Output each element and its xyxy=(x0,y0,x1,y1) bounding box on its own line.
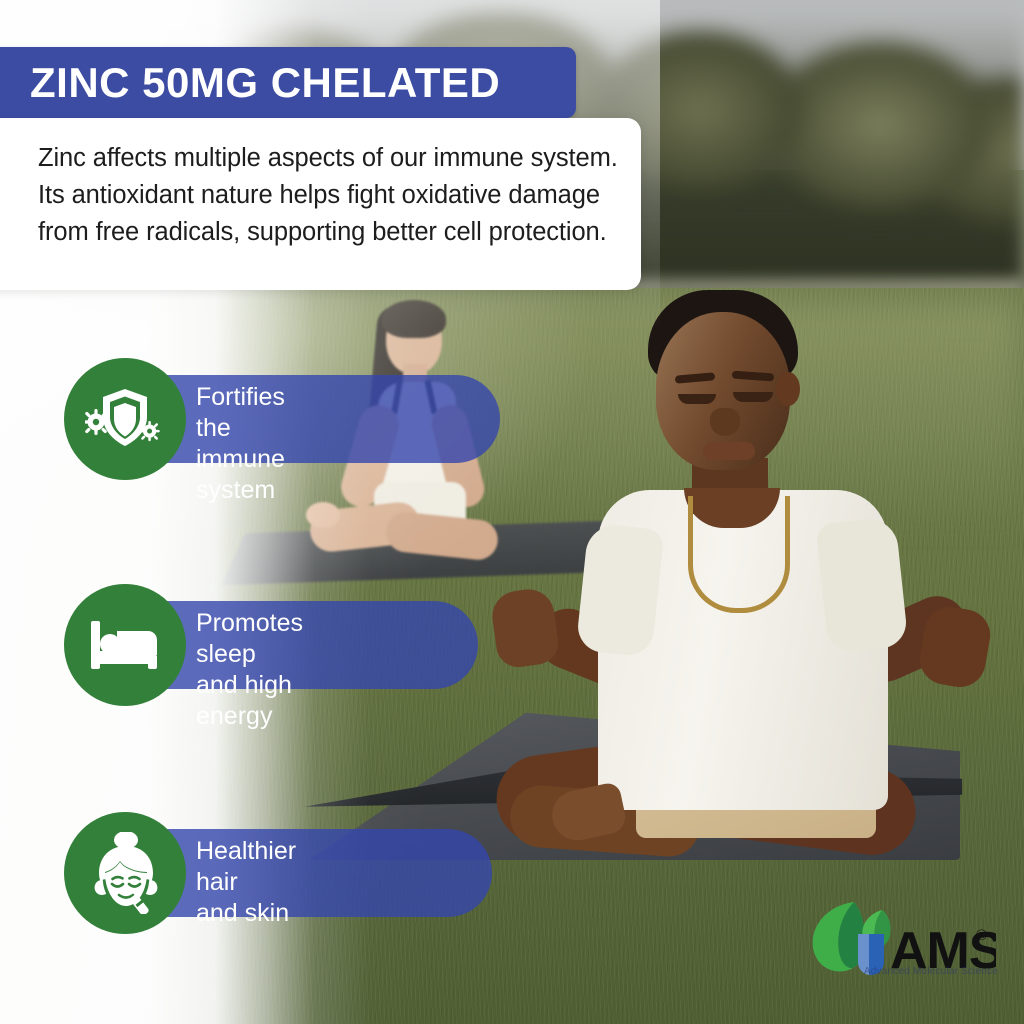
ams-logo: AMS ® Advanced Molecular Science xyxy=(806,896,996,992)
benefit-label: Promotes sleep and high energy xyxy=(196,608,303,732)
benefit-label: Healthier hair and skin xyxy=(196,836,296,929)
shield-virus-icon xyxy=(85,386,165,452)
benefit-icon-circle xyxy=(64,358,186,480)
leaf-capsule-icon xyxy=(813,902,891,975)
bed-sleep-icon xyxy=(89,617,161,673)
title-banner: ZINC 50MG CHELATED xyxy=(0,47,576,118)
description-card: Zinc affects multiple aspects of our imm… xyxy=(0,118,641,290)
benefit-icon-circle xyxy=(64,812,186,934)
man-meditating xyxy=(470,290,1024,850)
benefit-icon-circle xyxy=(64,584,186,706)
logo-tagline: Advanced Molecular Science xyxy=(862,966,1000,977)
infographic-poster: ZINC 50MG CHELATED Zinc affects multiple… xyxy=(0,0,1024,1024)
benefit-label: Fortifies the immune system xyxy=(196,382,285,506)
page-title: ZINC 50MG CHELATED xyxy=(0,59,500,107)
description-text: Zinc affects multiple aspects of our imm… xyxy=(38,140,618,251)
face-skincare-icon xyxy=(85,832,165,914)
svg-text:®: ® xyxy=(976,927,987,944)
